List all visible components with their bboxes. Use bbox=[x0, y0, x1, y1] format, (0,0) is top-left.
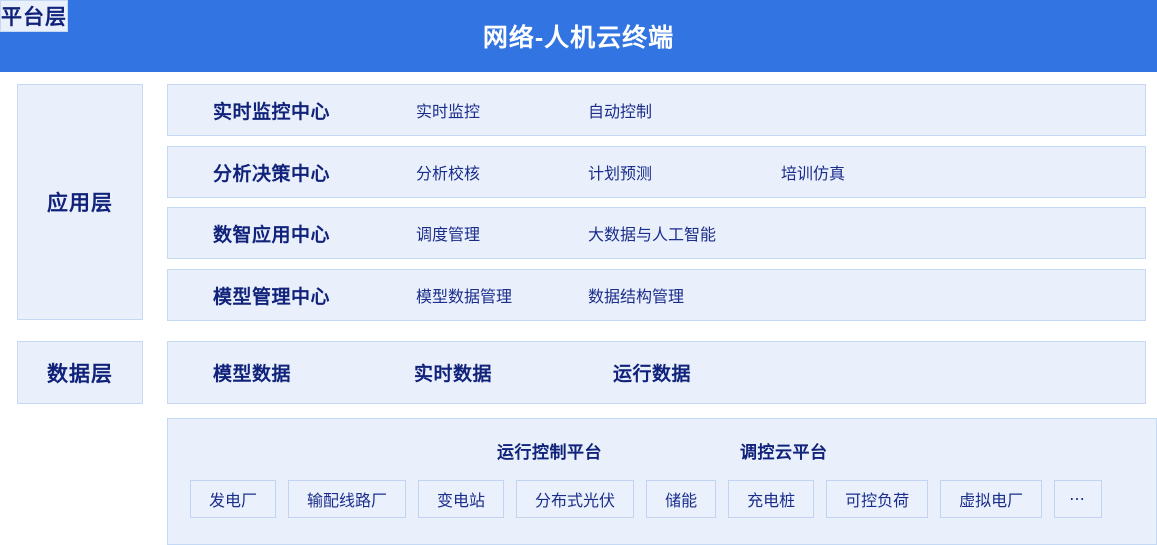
application-row-item[interactable]: 计划预测 bbox=[588, 160, 652, 184]
layer-label-data: 数据层 bbox=[17, 341, 143, 404]
platform-chip[interactable]: 可控负荷 bbox=[826, 480, 928, 518]
platform-chip[interactable]: 输配线路厂 bbox=[288, 480, 406, 518]
data-layer-item[interactable]: 运行数据 bbox=[613, 359, 691, 386]
application-row-item[interactable]: 模型数据管理 bbox=[416, 283, 512, 307]
page-title: 网络-人机云终端 bbox=[483, 18, 674, 54]
application-row-item[interactable]: 培训仿真 bbox=[781, 160, 845, 184]
layer-label-platform-text: 平台层 bbox=[1, 1, 67, 31]
layer-label-data-text: 数据层 bbox=[47, 358, 113, 388]
application-row-item[interactable]: 自动控制 bbox=[588, 98, 652, 122]
application-row[interactable]: 分析决策中心 分析校核 计划预测 培训仿真 bbox=[167, 146, 1146, 198]
architecture-diagram: 网络-人机云终端 应用层 数据层 平台层 实时监控中心 实时监控 自动控制 分析… bbox=[0, 0, 1157, 545]
platform-chip[interactable]: 储能 bbox=[646, 480, 716, 518]
application-row[interactable]: 模型管理中心 模型数据管理 数据结构管理 bbox=[167, 269, 1146, 321]
platform-chip[interactable]: 分布式光伏 bbox=[516, 480, 634, 518]
platform-chip[interactable]: 充电桩 bbox=[728, 480, 814, 518]
platform-layer-panel: 运行控制平台 调控云平台 发电厂 输配线路厂 变电站 分布式光伏 储能 充电桩 … bbox=[167, 418, 1157, 545]
application-row-item[interactable]: 数据结构管理 bbox=[588, 283, 684, 307]
layer-label-application: 应用层 bbox=[17, 84, 143, 320]
data-layer-item[interactable]: 实时数据 bbox=[414, 359, 492, 386]
platform-chip[interactable]: 变电站 bbox=[418, 480, 504, 518]
data-layer-item[interactable]: 模型数据 bbox=[213, 359, 291, 386]
application-row-title: 实时监控中心 bbox=[213, 97, 330, 124]
application-row-item[interactable]: 大数据与人工智能 bbox=[588, 221, 716, 245]
platform-chip[interactable]: 发电厂 bbox=[190, 480, 276, 518]
platform-chip-row: 发电厂 输配线路厂 变电站 分布式光伏 储能 充电桩 可控负荷 虚拟电厂 ⋯ bbox=[190, 480, 1102, 518]
data-layer-row[interactable]: 模型数据 实时数据 运行数据 bbox=[167, 341, 1146, 404]
application-row-item[interactable]: 分析校核 bbox=[416, 160, 480, 184]
platform-chip-more[interactable]: ⋯ bbox=[1054, 480, 1102, 518]
application-row-item[interactable]: 调度管理 bbox=[416, 221, 480, 245]
layer-label-application-text: 应用层 bbox=[47, 187, 113, 217]
page-header: 网络-人机云终端 bbox=[0, 0, 1157, 72]
application-row[interactable]: 数智应用中心 调度管理 大数据与人工智能 bbox=[167, 207, 1146, 259]
layer-label-platform: 平台层 bbox=[0, 0, 68, 32]
platform-heading[interactable]: 调控云平台 bbox=[740, 438, 828, 463]
platform-chip[interactable]: 虚拟电厂 bbox=[940, 480, 1042, 518]
application-row-title: 分析决策中心 bbox=[213, 159, 330, 186]
application-row-title: 模型管理中心 bbox=[213, 282, 330, 309]
application-row-title: 数智应用中心 bbox=[213, 220, 330, 247]
platform-heading[interactable]: 运行控制平台 bbox=[497, 438, 602, 463]
application-row-item[interactable]: 实时监控 bbox=[416, 98, 480, 122]
application-row[interactable]: 实时监控中心 实时监控 自动控制 bbox=[167, 84, 1146, 136]
